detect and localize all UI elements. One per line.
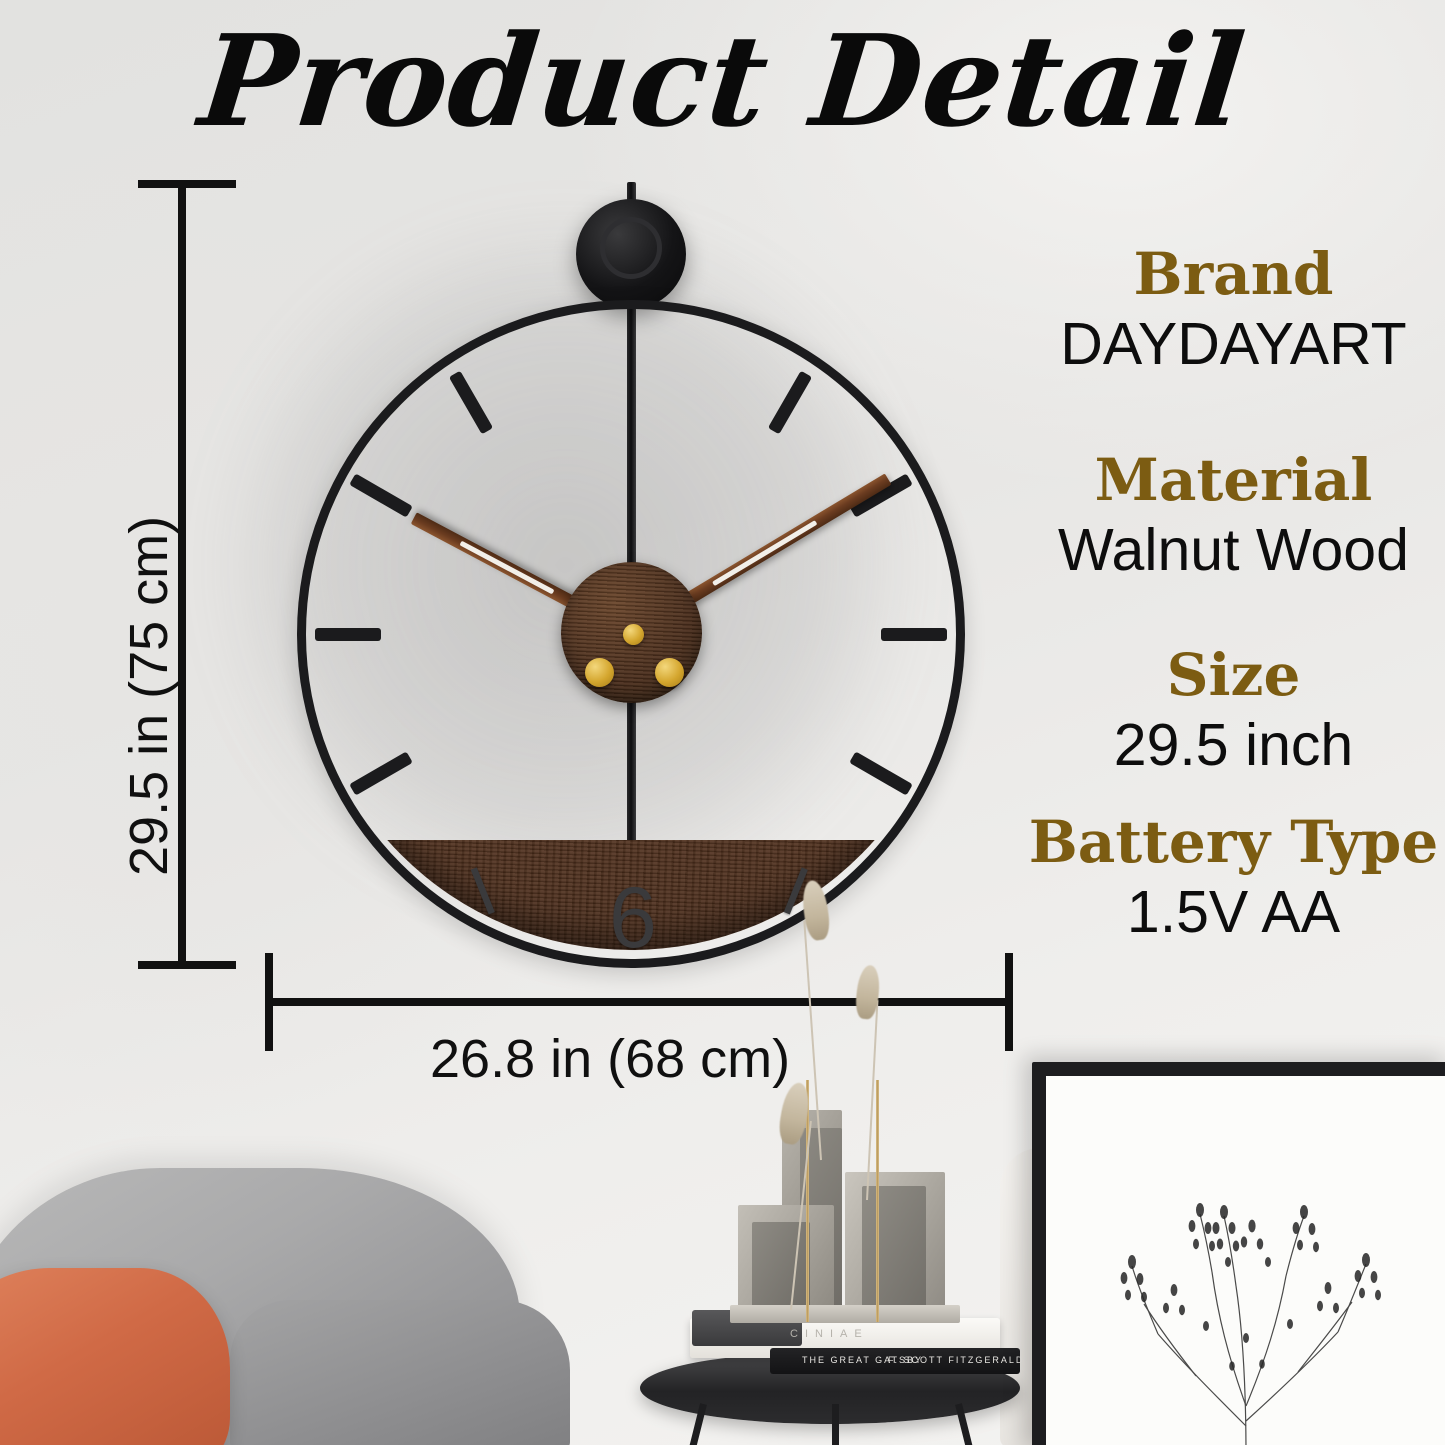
clock-numeral-6: 6 [609, 875, 657, 961]
book-upper-title: CINIAE [790, 1328, 869, 1340]
framed-wall-art [1032, 1062, 1445, 1445]
width-dimension-line [265, 998, 1013, 1006]
spec-battery-label: Battery Type [1022, 812, 1445, 873]
botanical-line-art-icon [1046, 1076, 1445, 1445]
book-author: F. SCOTT FITZGERALD [888, 1355, 1024, 1365]
page-title: Product Detail [0, 18, 1445, 144]
height-dimension-cap-top [138, 180, 236, 188]
spec-material: Material Walnut Wood [1022, 450, 1445, 583]
throw-pillow [0, 1268, 230, 1445]
wall-clock: I 6 I [297, 300, 965, 968]
spec-material-value: Walnut Wood [1022, 519, 1445, 583]
spec-brand-label: Brand [1022, 244, 1445, 305]
art-mat [1046, 1076, 1445, 1445]
sculpture-base [730, 1305, 960, 1323]
spec-brand-value: DAYDAYART [1022, 313, 1445, 377]
table-leg-center [832, 1404, 839, 1445]
spec-size: Size 29.5 inch [1022, 645, 1445, 778]
spec-size-value: 29.5 inch [1022, 714, 1445, 778]
brass-rod-right [876, 1080, 879, 1322]
armchair-seat [230, 1300, 570, 1445]
width-dimension-cap-right [1005, 953, 1013, 1051]
height-dimension-cap-bottom [138, 961, 236, 969]
hour-marker-3 [881, 628, 947, 641]
spec-battery: Battery Type 1.5V AA [1022, 812, 1445, 945]
hour-marker-9 [315, 628, 381, 641]
height-dimension-label: 29.5 in (75 cm) [118, 516, 180, 876]
spec-brand: Brand DAYDAYART [1022, 244, 1445, 377]
left-screw [585, 658, 614, 687]
center-screw [623, 624, 644, 645]
sculpture-medium-inner [862, 1186, 926, 1322]
spec-battery-value: 1.5V AA [1022, 881, 1445, 945]
wall-mount-disc [576, 199, 686, 309]
product-detail-image: Product Detail 29.5 in (75 cm) 26.8 in (… [0, 0, 1445, 1445]
wall-mount-inner-ring [600, 217, 662, 279]
spec-size-label: Size [1022, 645, 1445, 706]
spec-material-label: Material [1022, 450, 1445, 511]
right-screw [655, 658, 684, 687]
width-dimension-label: 26.8 in (68 cm) [430, 1028, 790, 1090]
